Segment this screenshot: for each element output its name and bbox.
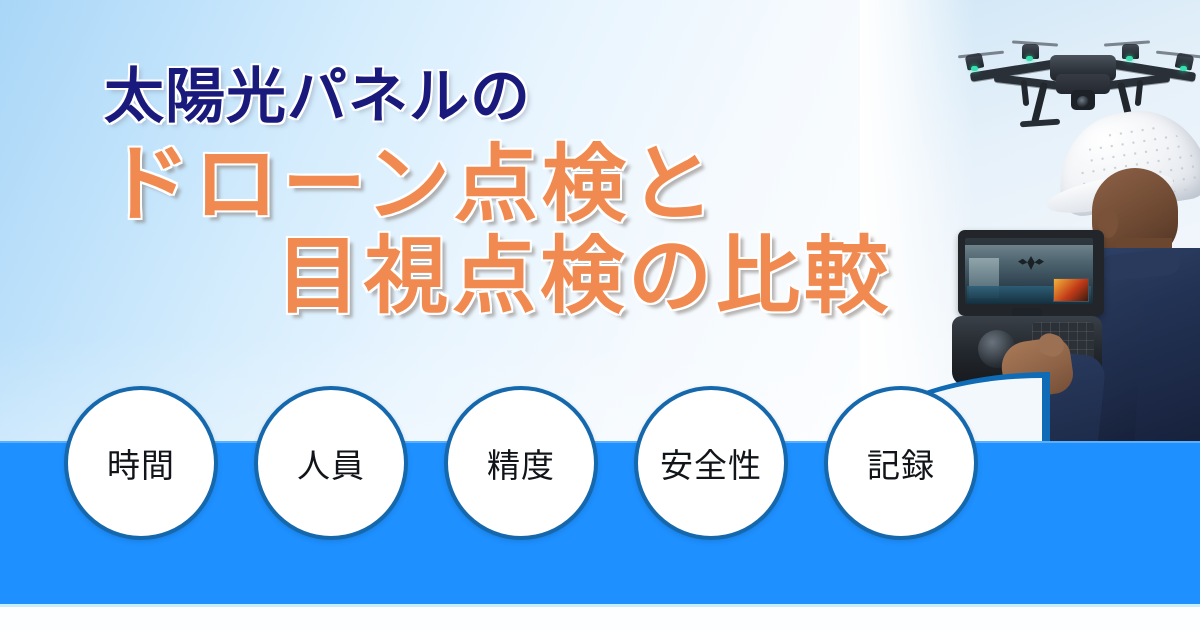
keyword-circle-staff[interactable]: 人員	[254, 386, 408, 540]
keyword-circle-time[interactable]: 時間	[64, 386, 218, 540]
keyword-circle-row: 時間 人員 精度 安全性 記録	[0, 0, 1200, 630]
keyword-circle-record[interactable]: 記録	[824, 386, 978, 540]
keyword-circle-safety[interactable]: 安全性	[634, 386, 788, 540]
keyword-circle-accuracy[interactable]: 精度	[444, 386, 598, 540]
banner-canvas: 太陽光パネルの ドローン点検と 目視点検の比較 時間 人員 精度 安全性 記録	[0, 0, 1200, 630]
